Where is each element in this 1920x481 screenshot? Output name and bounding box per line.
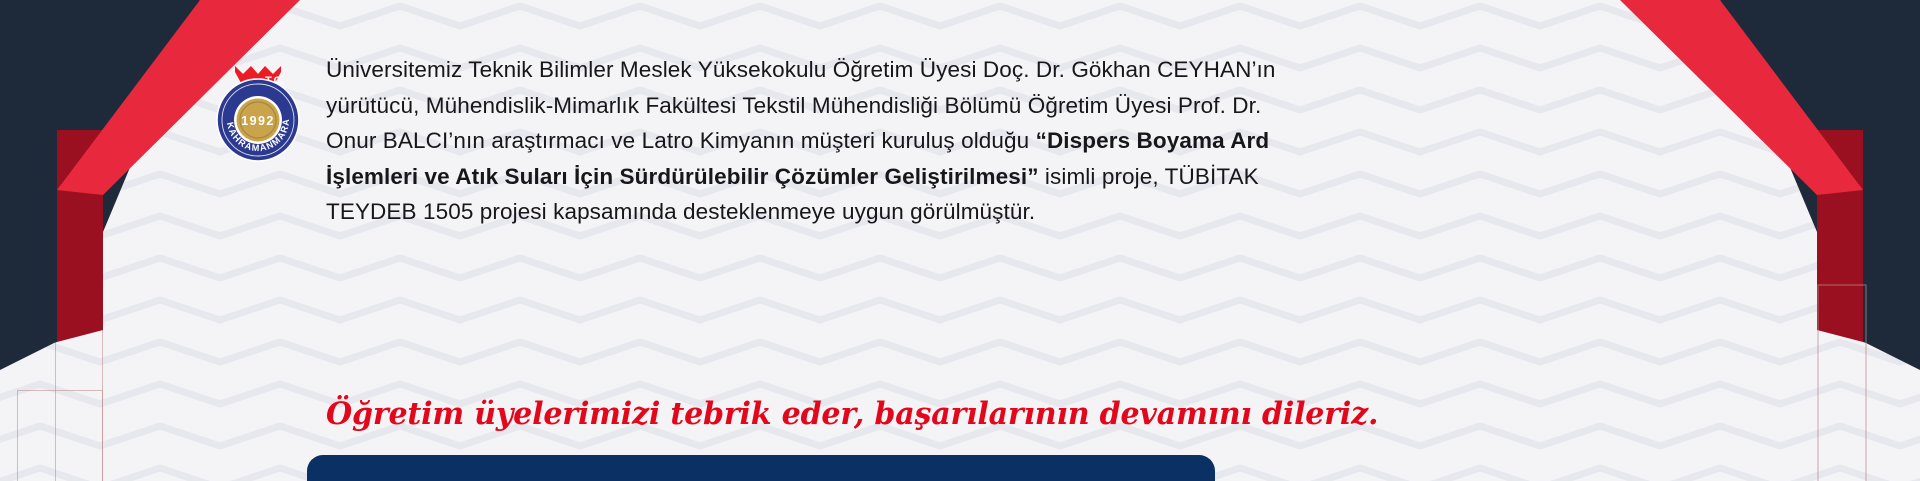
announcement-content: Üniversitemiz Teknik Bilimler Meslek Yük… bbox=[326, 52, 1318, 230]
bottom-navy-banner bbox=[307, 455, 1215, 481]
congratulations-tagline: Öğretim üyelerimizi tebrik eder, başarıl… bbox=[326, 396, 1378, 432]
announcement-paragraph: Üniversitemiz Teknik Bilimler Meslek Yük… bbox=[326, 52, 1318, 230]
announcement-banner: T.C. KAHRAMANMARAŞ SÜTÇÜ İMAM ÜNİVERSİTE… bbox=[0, 0, 1920, 481]
logo-year-label: 1992 bbox=[241, 114, 274, 128]
university-logo: T.C. KAHRAMANMARAŞ SÜTÇÜ İMAM ÜNİVERSİTE… bbox=[207, 58, 309, 166]
